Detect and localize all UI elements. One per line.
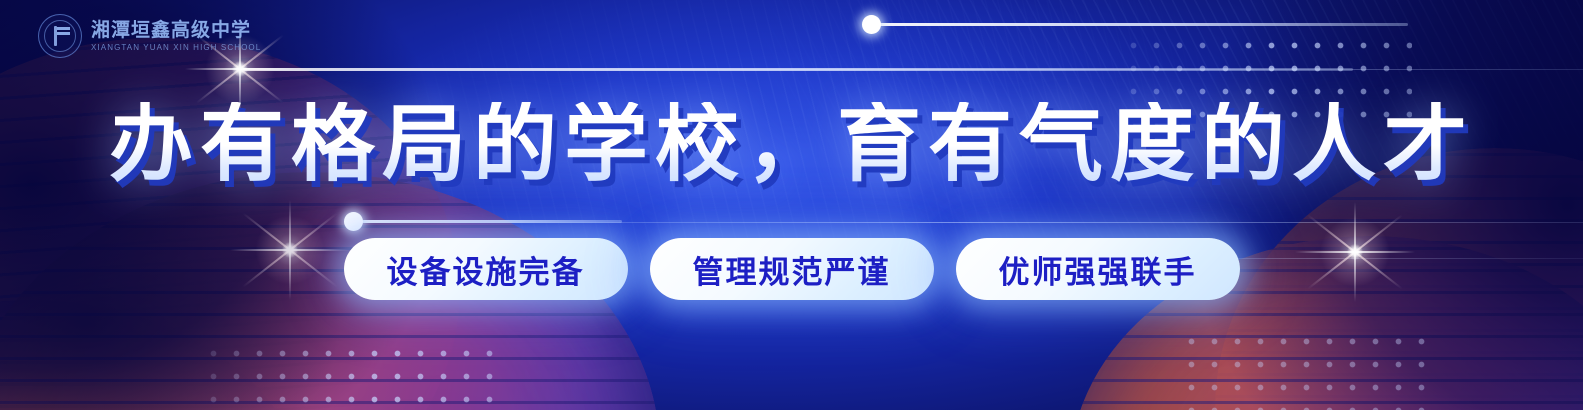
decor-node-dot-mid-left bbox=[344, 212, 363, 231]
feature-pill-management[interactable]: 管理规范严谨 bbox=[650, 238, 934, 300]
decor-dot-grid-bottom-right bbox=[1180, 330, 1430, 410]
feature-pill-teachers[interactable]: 优师强强联手 bbox=[956, 238, 1240, 300]
decor-node-line-mid-left bbox=[362, 220, 622, 223]
school-hero-banner: 湘潭垣鑫高级中学 XIANGTAN YUAN XIN HIGH SCHOOL 办… bbox=[0, 0, 1583, 410]
decor-node-dot-top-right bbox=[862, 15, 881, 34]
page-title: 办有格局的学校，育有气度的人才 bbox=[0, 102, 1583, 186]
decor-dot-grid-bottom-center bbox=[202, 342, 502, 410]
school-logo[interactable]: 湘潭垣鑫高级中学 XIANGTAN YUAN XIN HIGH SCHOOL bbox=[38, 14, 261, 58]
decor-node-line-left-upper bbox=[243, 68, 1353, 71]
feature-pill-row: 设备设施完备 管理规范严谨 优师强强联手 bbox=[0, 238, 1583, 300]
feature-pill-facilities[interactable]: 设备设施完备 bbox=[344, 238, 628, 300]
school-crest-icon bbox=[38, 14, 82, 58]
decor-node-line-top-right bbox=[878, 23, 1408, 26]
school-name-cn: 湘潭垣鑫高级中学 bbox=[91, 21, 261, 40]
school-name-en: XIANGTAN YUAN XIN HIGH SCHOOL bbox=[91, 44, 261, 52]
school-name-block: 湘潭垣鑫高级中学 XIANGTAN YUAN XIN HIGH SCHOOL bbox=[91, 21, 261, 52]
